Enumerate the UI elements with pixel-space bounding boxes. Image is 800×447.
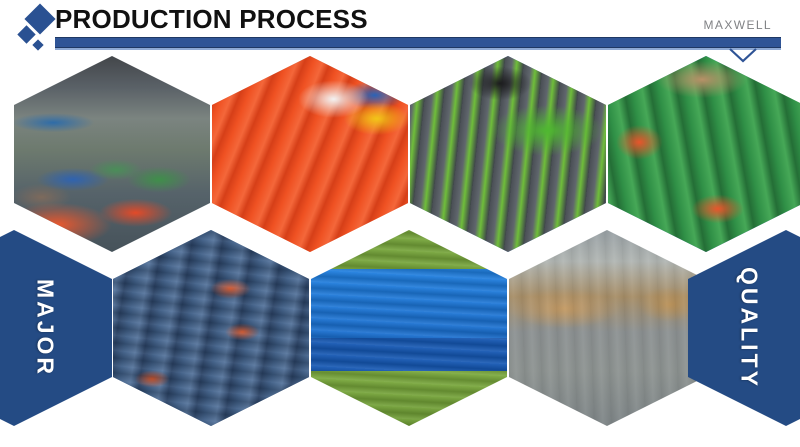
hex-tile-green-tarp-inspection[interactable] bbox=[410, 56, 606, 252]
side-panel-major-label: MAJOR bbox=[32, 279, 59, 377]
hex-tile-packed-bags-crate[interactable] bbox=[608, 56, 800, 252]
hex-tile-orange-tarp-folding[interactable] bbox=[212, 56, 408, 252]
page-title: PRODUCTION PROCESS bbox=[55, 2, 368, 36]
photo-green-tarp-inspection bbox=[410, 56, 606, 252]
photo-orange-tarp-folding bbox=[212, 56, 408, 252]
brand-label: MAXWELL bbox=[704, 18, 772, 32]
honeycomb-gallery: MAJOR QUALITY bbox=[0, 54, 800, 447]
hex-tile-fabric-roll-warehouse[interactable] bbox=[14, 56, 210, 252]
photo-carton-warehouse bbox=[509, 230, 705, 426]
side-panel-quality: QUALITY bbox=[688, 230, 800, 426]
hex-tile-carton-warehouse[interactable] bbox=[509, 230, 705, 426]
hex-tile-blue-green-folded-stacks[interactable] bbox=[311, 230, 507, 426]
header-rule-thin bbox=[55, 48, 781, 50]
diamond-icon-small bbox=[32, 39, 43, 50]
photo-blue-mattress-stacks bbox=[113, 230, 309, 426]
photo-packed-bags-crate bbox=[608, 56, 800, 252]
slide-root: PRODUCTION PROCESS MAXWELL MAJOR bbox=[0, 0, 800, 447]
header-rule-thick bbox=[55, 37, 781, 48]
hex-tile-blue-mattress-stacks[interactable] bbox=[113, 230, 309, 426]
photo-fabric-roll-warehouse bbox=[14, 56, 210, 252]
side-panel-major: MAJOR bbox=[0, 230, 112, 426]
photo-blue-green-folded-stacks bbox=[311, 230, 507, 426]
side-panel-quality-label: QUALITY bbox=[735, 267, 762, 389]
slide-header: PRODUCTION PROCESS MAXWELL bbox=[0, 0, 800, 58]
